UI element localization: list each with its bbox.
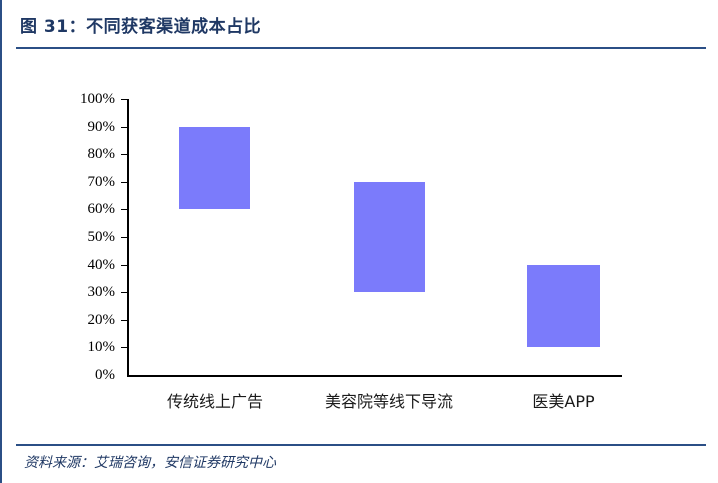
x-category-label-0: 传统线上广告 bbox=[134, 388, 296, 412]
y-tick-label-60: 60% bbox=[57, 202, 115, 217]
y-tick-label-70: 70% bbox=[57, 175, 115, 190]
chart-plot-area: 100% 90% 80% 70% 60% 50% 40% 30% 20% 10% bbox=[2, 0, 718, 483]
y-axis-line bbox=[127, 99, 129, 377]
range-bar-2[interactable] bbox=[527, 265, 600, 348]
figure-container: 图 31：不同获客渠道成本占比 100% 90% 80% 70% 60% 50%… bbox=[0, 0, 718, 483]
y-tick-label-90: 90% bbox=[57, 120, 115, 135]
y-tick-label-20: 20% bbox=[57, 313, 115, 328]
x-category-label-1: 美容院等线下导流 bbox=[293, 388, 485, 412]
range-bar-1[interactable] bbox=[354, 182, 425, 292]
y-tick-label-30: 30% bbox=[57, 285, 115, 300]
y-tick-label-0: 0% bbox=[57, 368, 115, 383]
x-axis-line bbox=[127, 375, 622, 377]
range-bar-0[interactable] bbox=[179, 127, 250, 210]
y-tick-label-50: 50% bbox=[57, 230, 115, 245]
y-tick-label-80: 80% bbox=[57, 147, 115, 162]
x-category-label-2: 医美APP bbox=[492, 388, 635, 412]
y-tick-label-10: 10% bbox=[57, 340, 115, 355]
source-note: 资料来源：艾瑞咨询，安信证券研究中心 bbox=[24, 452, 276, 472]
footer-divider bbox=[16, 444, 706, 446]
y-tick-label-40: 40% bbox=[57, 258, 115, 273]
y-tick-label-100: 100% bbox=[57, 92, 115, 107]
